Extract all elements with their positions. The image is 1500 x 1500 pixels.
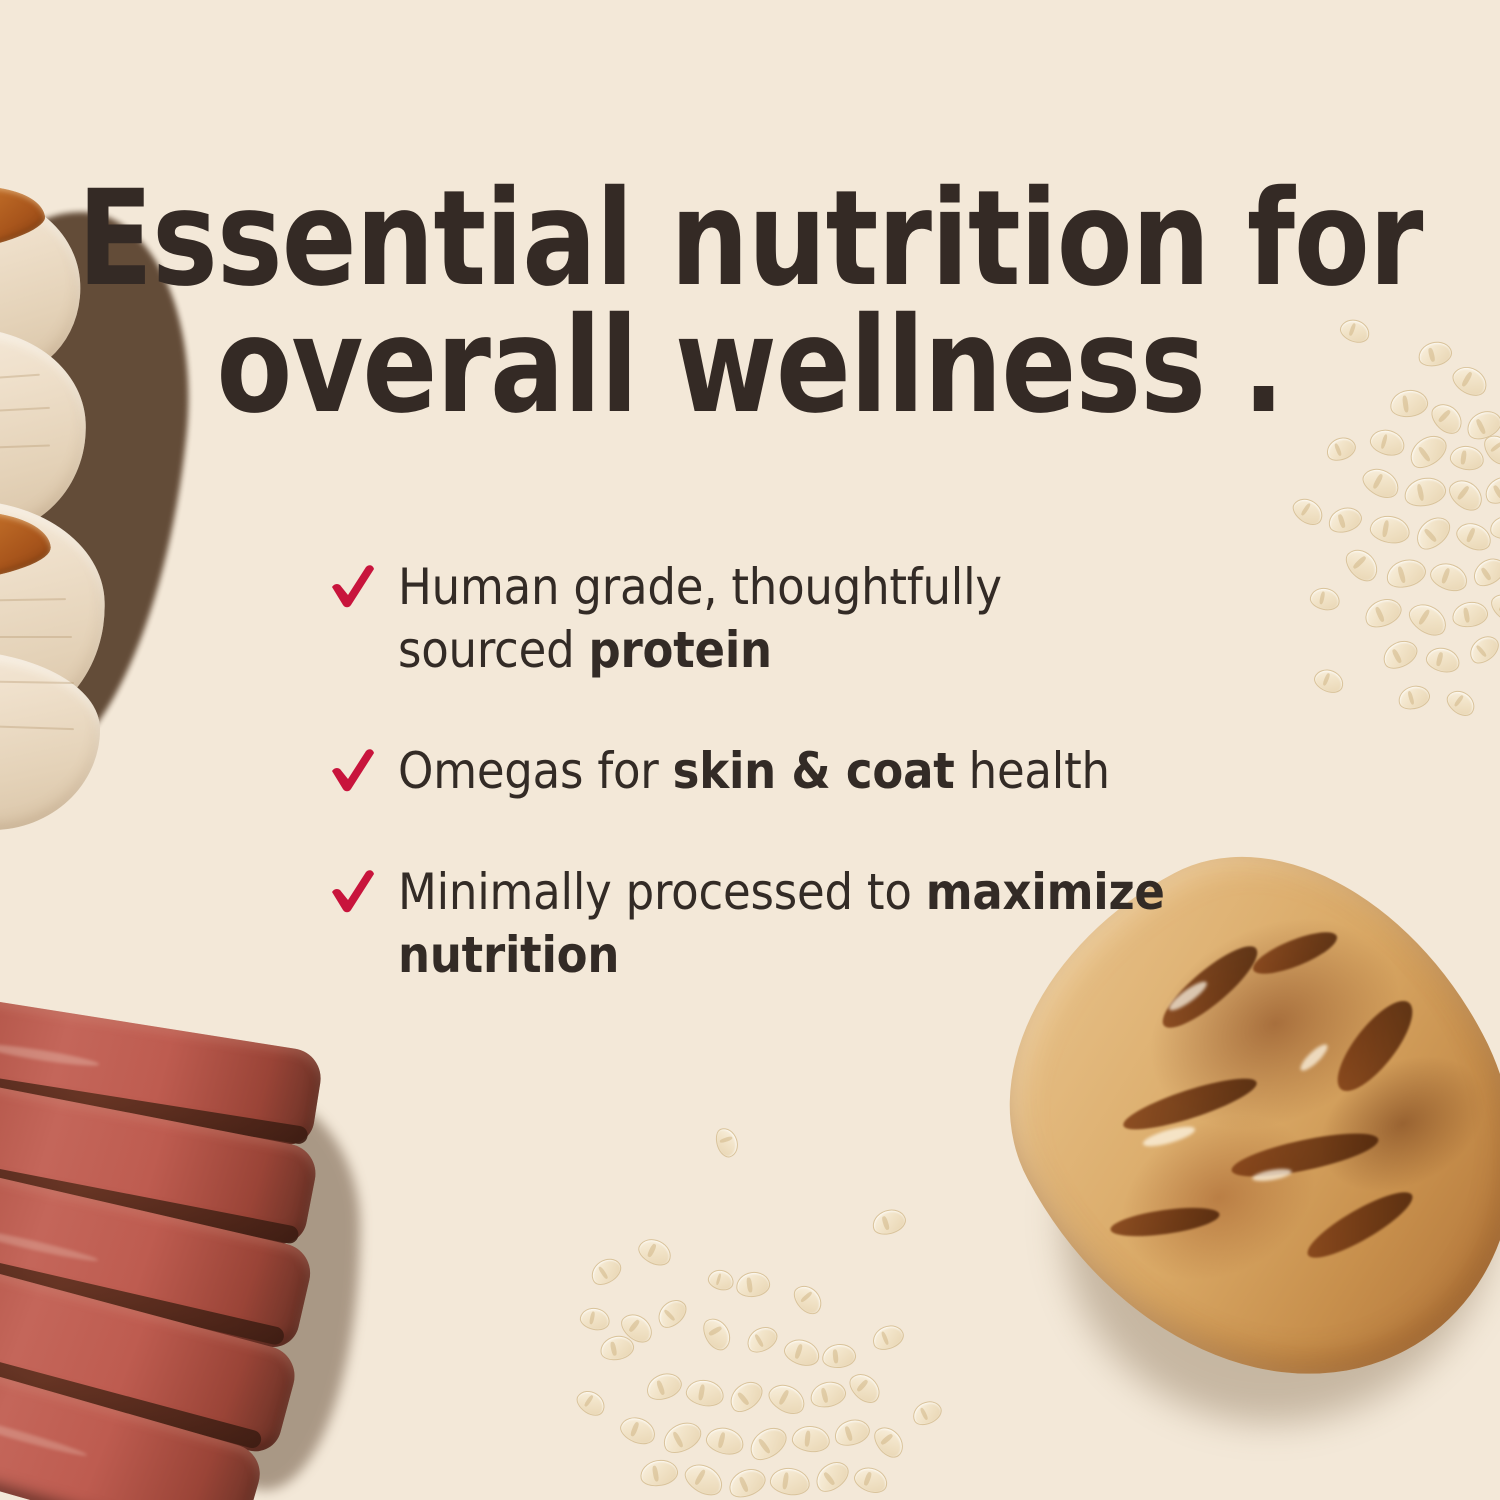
oat-flake xyxy=(703,1424,746,1458)
steak-highlight xyxy=(0,1041,100,1070)
oat-flake xyxy=(1402,474,1449,510)
chicken-highlight xyxy=(1251,1167,1292,1184)
chicken-shadow xyxy=(982,915,1500,1500)
oat-flake xyxy=(1378,635,1422,674)
oat-flake xyxy=(1442,685,1479,720)
check-icon xyxy=(330,867,376,915)
oat-flake xyxy=(831,1415,873,1450)
oat-flake xyxy=(638,1457,680,1489)
oat-flake xyxy=(768,1465,811,1497)
oat-flake xyxy=(744,1421,792,1466)
oat-flake xyxy=(634,1234,675,1270)
pork-crust xyxy=(0,171,48,267)
sliced-steak-photo xyxy=(0,1010,440,1500)
oat-flake xyxy=(1427,558,1472,595)
chicken-highlight xyxy=(1141,1123,1196,1150)
pork-slice xyxy=(0,495,109,734)
oat-flake xyxy=(617,1412,660,1449)
check-icon xyxy=(330,562,376,610)
oat-flake xyxy=(1464,630,1500,668)
list-item: Omegas for skin & coat health xyxy=(330,740,1230,803)
check-icon xyxy=(330,746,376,794)
steak-sear-edge xyxy=(0,1149,300,1245)
oat-flake xyxy=(851,1463,891,1497)
pork-grain xyxy=(0,636,72,638)
oat-flake xyxy=(808,1378,849,1411)
chicken-char-mark xyxy=(1301,1182,1420,1268)
oat-flake xyxy=(643,1369,685,1405)
chicken-highlight xyxy=(1297,1041,1331,1074)
oat-flake xyxy=(1325,503,1365,536)
oat-flake xyxy=(680,1458,728,1500)
chicken-char-mark xyxy=(1248,924,1341,982)
chicken-char-mark xyxy=(1109,1202,1221,1241)
oat-flake xyxy=(1383,555,1429,592)
steak-slice xyxy=(0,988,325,1149)
marketing-banner: Essential nutrition for overall wellness… xyxy=(0,0,1500,1500)
list-item-label: Omegas for skin & coat health xyxy=(398,740,1110,803)
oat-flake xyxy=(791,1424,832,1454)
oat-flake xyxy=(821,1342,857,1369)
oat-flake xyxy=(869,1421,909,1462)
oat-flake xyxy=(909,1397,946,1430)
page-title: Essential nutrition for overall wellness… xyxy=(53,176,1448,429)
oat-flake xyxy=(712,1125,741,1160)
benefits-list: Human grade, thoughtfully sourced protei… xyxy=(330,556,1230,987)
oat-flake xyxy=(1308,585,1342,613)
steak-slice xyxy=(0,1335,267,1500)
scattered-oats-photo xyxy=(560,1130,960,1500)
list-item: Minimally processed to maximize nutritio… xyxy=(330,861,1230,987)
pork-grain xyxy=(0,445,50,454)
oat-flake xyxy=(1448,361,1492,402)
chicken-char-mark xyxy=(1325,990,1424,1101)
oat-flake xyxy=(616,1308,658,1348)
chicken-char-mark xyxy=(1119,1069,1261,1139)
steak-highlight xyxy=(0,1410,88,1460)
pork-slice xyxy=(0,650,100,830)
oat-flake xyxy=(1450,599,1490,630)
pork-grain xyxy=(0,598,66,604)
oat-flake xyxy=(1311,665,1347,697)
pork-grain xyxy=(0,407,50,419)
oat-flake xyxy=(1424,644,1463,676)
oat-flake xyxy=(578,1305,612,1333)
oat-flake xyxy=(658,1416,706,1459)
oat-flake xyxy=(1404,429,1452,474)
oat-flake xyxy=(653,1294,692,1333)
oat-flake xyxy=(1468,553,1500,592)
oat-flake xyxy=(724,1375,768,1417)
oat-flake xyxy=(1479,430,1500,469)
steak-slice xyxy=(0,1152,316,1352)
oat-flake xyxy=(586,1253,625,1290)
oat-flake xyxy=(1489,514,1500,540)
steak-shadow xyxy=(170,1090,360,1490)
oat-flake xyxy=(1358,463,1404,504)
pork-grain xyxy=(0,678,74,684)
steak-slice xyxy=(0,1068,321,1248)
oat-flake xyxy=(810,1456,854,1498)
headline-line-2: overall wellness . xyxy=(53,303,1448,430)
oat-flake xyxy=(1367,426,1408,460)
oat-flake xyxy=(598,1333,636,1364)
oat-flake xyxy=(724,1463,769,1500)
steak-sear-edge xyxy=(0,1324,263,1450)
oat-flake xyxy=(1410,511,1456,556)
oat-flake xyxy=(1452,518,1495,555)
oat-flake xyxy=(1404,597,1452,641)
list-item: Human grade, thoughtfully sourced protei… xyxy=(330,556,1230,682)
list-item-label: Minimally processed to maximize nutritio… xyxy=(398,861,1188,987)
oat-flake xyxy=(1288,493,1327,530)
oat-flake xyxy=(1360,593,1405,632)
oat-flake xyxy=(1323,433,1359,465)
oat-flake xyxy=(706,1267,737,1293)
oat-flake xyxy=(869,1205,909,1238)
oat-flake xyxy=(1340,543,1384,587)
oat-flake xyxy=(1462,405,1500,444)
oat-flake xyxy=(734,1270,771,1299)
oat-flake xyxy=(1444,474,1488,517)
oat-flake xyxy=(781,1335,823,1370)
oat-flake xyxy=(789,1280,828,1319)
oat-flake xyxy=(1448,444,1485,472)
steak-sear-edge xyxy=(0,1065,309,1145)
oat-flake xyxy=(1480,471,1500,509)
oat-flake xyxy=(844,1368,885,1409)
oat-flake xyxy=(869,1321,907,1354)
oat-flake xyxy=(572,1385,609,1420)
chicken-char-mark xyxy=(1229,1125,1382,1186)
oat-flake xyxy=(1486,588,1500,626)
pork-crust xyxy=(0,500,53,593)
oat-flake xyxy=(1368,513,1412,547)
steak-highlight xyxy=(0,1224,99,1264)
pork-grain xyxy=(0,374,40,389)
steak-sear-edge xyxy=(0,1236,286,1347)
oat-flake xyxy=(698,1313,736,1354)
oat-flake xyxy=(1395,682,1432,713)
oat-flake xyxy=(684,1377,726,1409)
headline-line-1: Essential nutrition for xyxy=(53,176,1448,303)
steak-slice xyxy=(0,1241,301,1457)
oat-flake xyxy=(742,1322,781,1358)
pork-grain xyxy=(0,720,74,730)
oat-flake xyxy=(764,1379,810,1420)
list-item-label: Human grade, thoughtfully sourced protei… xyxy=(398,556,1188,682)
